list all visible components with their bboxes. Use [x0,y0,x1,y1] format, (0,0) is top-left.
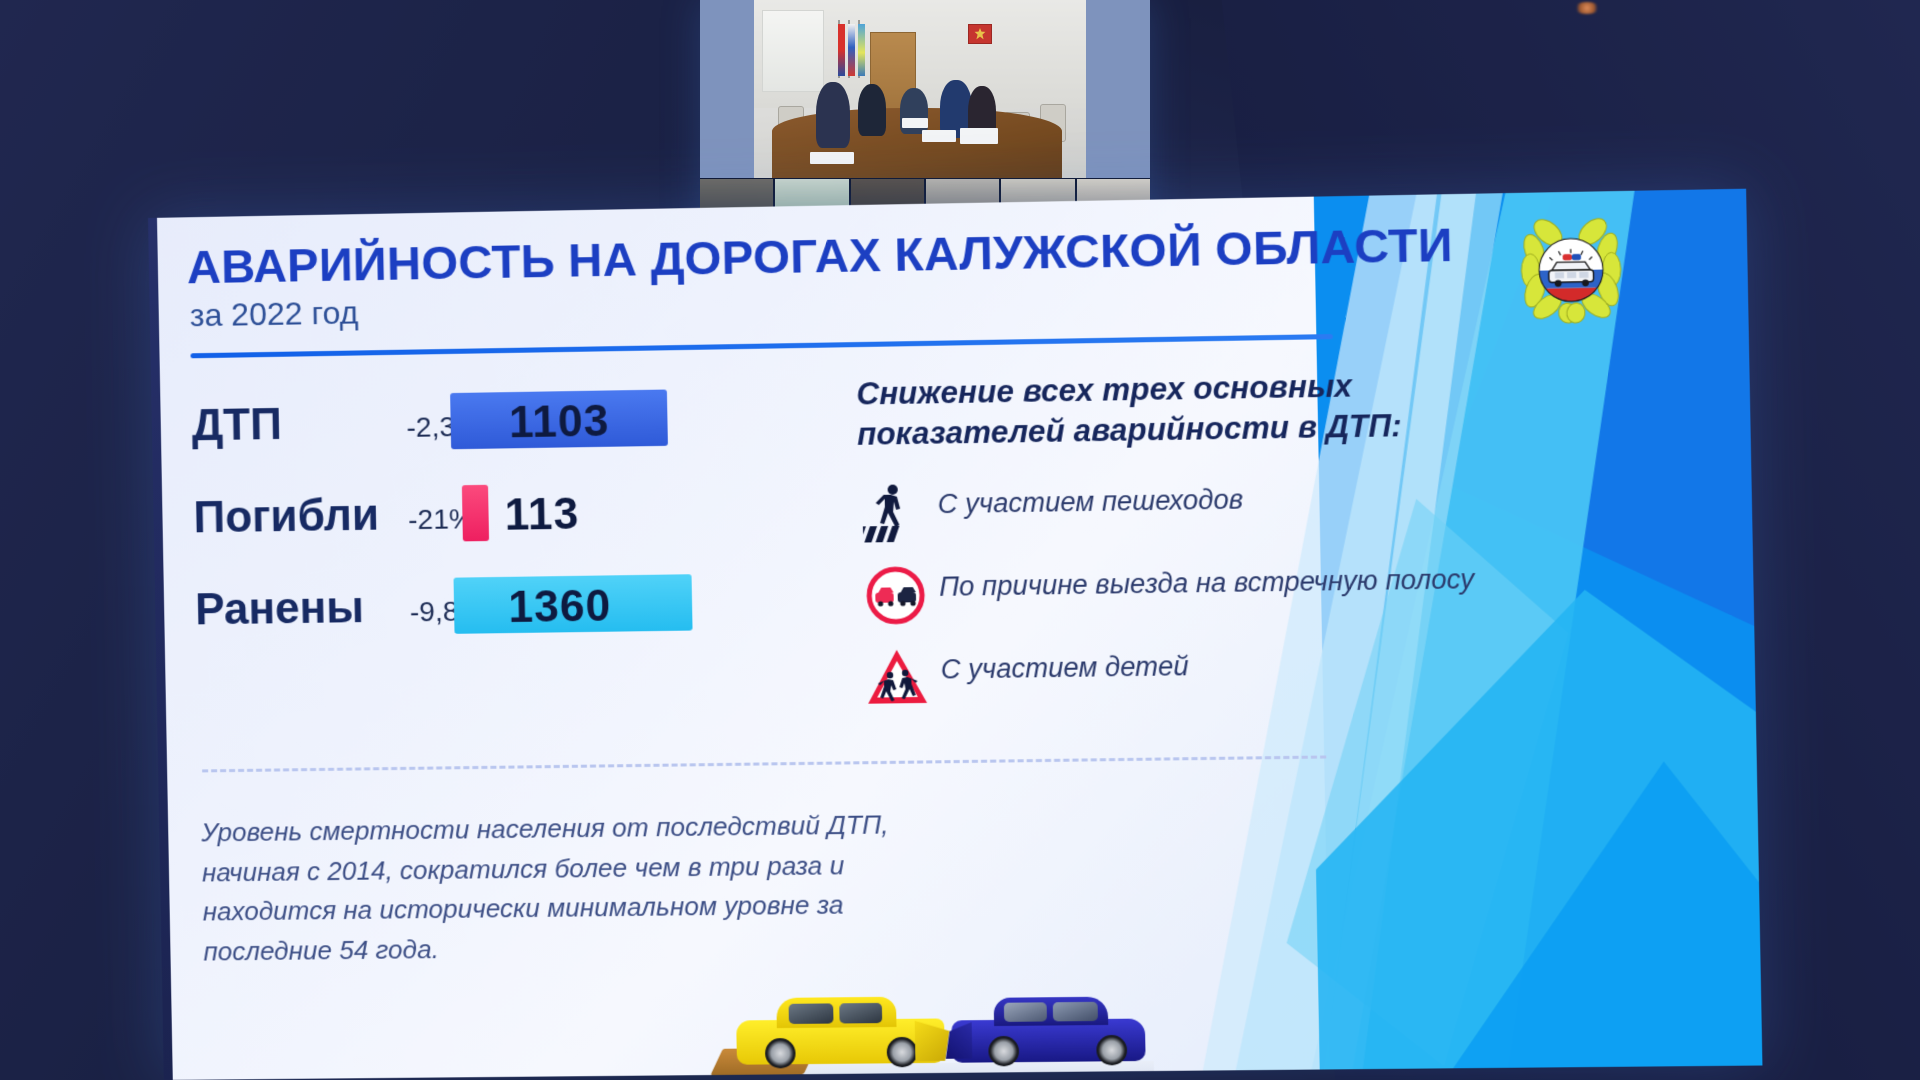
stats-block: ДТП -2,3% 1103 Погибли -21% 113 Ранены -… [191,382,861,669]
screen-scene: АВАРИЙНОСТЬ НА ДОРОГАХ КАЛУЖСКОЙ ОБЛАСТИ… [0,0,1920,1080]
stat-label: ДТП [191,400,282,451]
list-item: С участием детей [861,637,1558,719]
feed-letterbox-right [1086,0,1150,178]
blue-car [945,992,1150,1069]
children-warning-icon [865,646,929,709]
stat-value: 1103 [509,397,610,449]
flag-3 [858,24,865,76]
pedestrian-crossing-icon [862,481,926,544]
highlights-block: Снижение всех трех основных показателей … [856,363,1558,730]
no-overtaking-icon [864,563,928,626]
russian-coat-of-arms [968,24,992,44]
room-window [762,10,824,92]
flag-2 [848,24,855,76]
title-divider [190,334,1332,358]
video-conference-feed[interactable] [700,0,1150,226]
feed-letterbox-left [700,0,754,178]
papers-3 [922,130,956,142]
page-title: АВАРИЙНОСТЬ НА ДОРОГАХ КАЛУЖСКОЙ ОБЛАСТИ [186,216,1453,294]
list-item: С участием пешеходов [858,471,1555,554]
highlights-list: С участием пешеходов [858,471,1558,719]
highlights-heading: Снижение всех трех основных показателей … [856,363,1553,456]
participant-seated-1 [816,82,850,148]
gibdd-emblem [1509,209,1633,331]
list-item-label: По причине выезда на встречную полосу [939,554,1556,604]
yellow-car [736,994,955,1071]
projected-slide: АВАРИЙНОСТЬ НА ДОРОГАХ КАЛУЖСКОЙ ОБЛАСТИ… [148,189,1762,1080]
list-item: По причине выезда на встречную полосу [860,554,1557,637]
participant-seated-2 [858,84,886,136]
stat-label: Ранены [195,583,365,635]
stat-bar [462,485,489,542]
page-subtitle: за 2022 год [189,294,358,334]
ceiling-light [1574,2,1600,14]
stat-value: 113 [504,489,579,540]
meeting-room-image [754,0,1086,178]
car-crash-photo [725,948,1154,1080]
papers-2 [902,118,928,128]
papers-4 [960,128,998,144]
stat-row: Погибли -21% 113 [193,475,860,577]
stat-row: ДТП -2,3% 1103 [191,382,858,485]
footer-note: Уровень смертности населения от последст… [201,805,910,972]
papers-1 [810,152,854,164]
stat-value: 1360 [508,581,612,633]
stat-row: Ранены -9,8% 1360 [195,568,862,670]
section-divider [202,755,1326,772]
flag-1 [838,24,845,76]
list-item-label: С участием пешеходов [937,471,1554,522]
stat-label: Погибли [193,491,379,544]
list-item-label: С участием детей [940,637,1557,687]
video-main-feed[interactable] [700,0,1150,178]
